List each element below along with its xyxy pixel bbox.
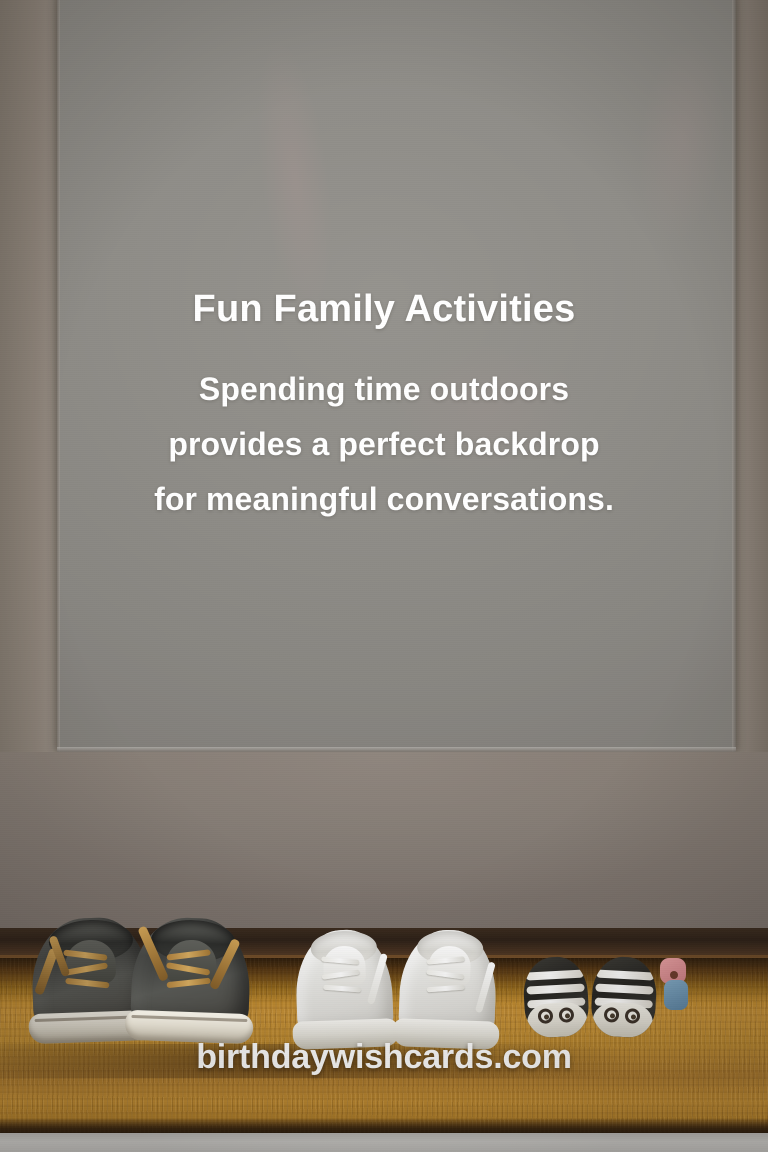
subtitle-line-2: provides a perfect backdrop — [0, 417, 768, 472]
shoe-strap — [596, 970, 654, 981]
shoe-right — [590, 955, 658, 1038]
baby-panda-shoes — [522, 948, 672, 1043]
shoe-lace-tail — [367, 953, 388, 1005]
subtitle-line-1: Spending time outdoors — [0, 362, 768, 417]
shoe-toe-cap — [592, 1001, 654, 1038]
small-toy — [660, 958, 690, 1016]
card-title: Fun Family Activities — [0, 288, 768, 331]
subtitle-line-3: for meaningful conversations. — [0, 472, 768, 527]
shoe-sole — [125, 1010, 254, 1044]
shoe-toe-cap — [526, 1001, 588, 1038]
adult-dark-sneakers — [30, 886, 300, 1046]
white-sneakers — [296, 900, 506, 1050]
footer-watermark-url: birthdaywishcards.com — [0, 1038, 768, 1077]
shoe-strap — [526, 983, 584, 994]
shoe-strap — [595, 983, 653, 994]
shoe-right — [130, 916, 252, 1030]
toy-dot — [670, 971, 678, 979]
shoe-lace — [427, 985, 465, 993]
toy-blue-part — [664, 980, 688, 1010]
panel-stain — [604, 4, 760, 276]
shoe-tongue — [428, 945, 471, 986]
shoe-tongue — [323, 945, 366, 986]
shoe-left — [294, 928, 394, 1035]
shoe-strap — [526, 970, 584, 981]
shoe-right — [398, 928, 498, 1035]
shoe-lace-tail — [475, 961, 496, 1013]
floor-strip — [0, 1133, 768, 1152]
card-subtitle: Spending time outdoors provides a perfec… — [0, 362, 768, 527]
shoe-lace — [323, 985, 361, 993]
greeting-card-image: Fun Family Activities Spending time outd… — [0, 0, 768, 1152]
shoe-left — [522, 955, 590, 1038]
